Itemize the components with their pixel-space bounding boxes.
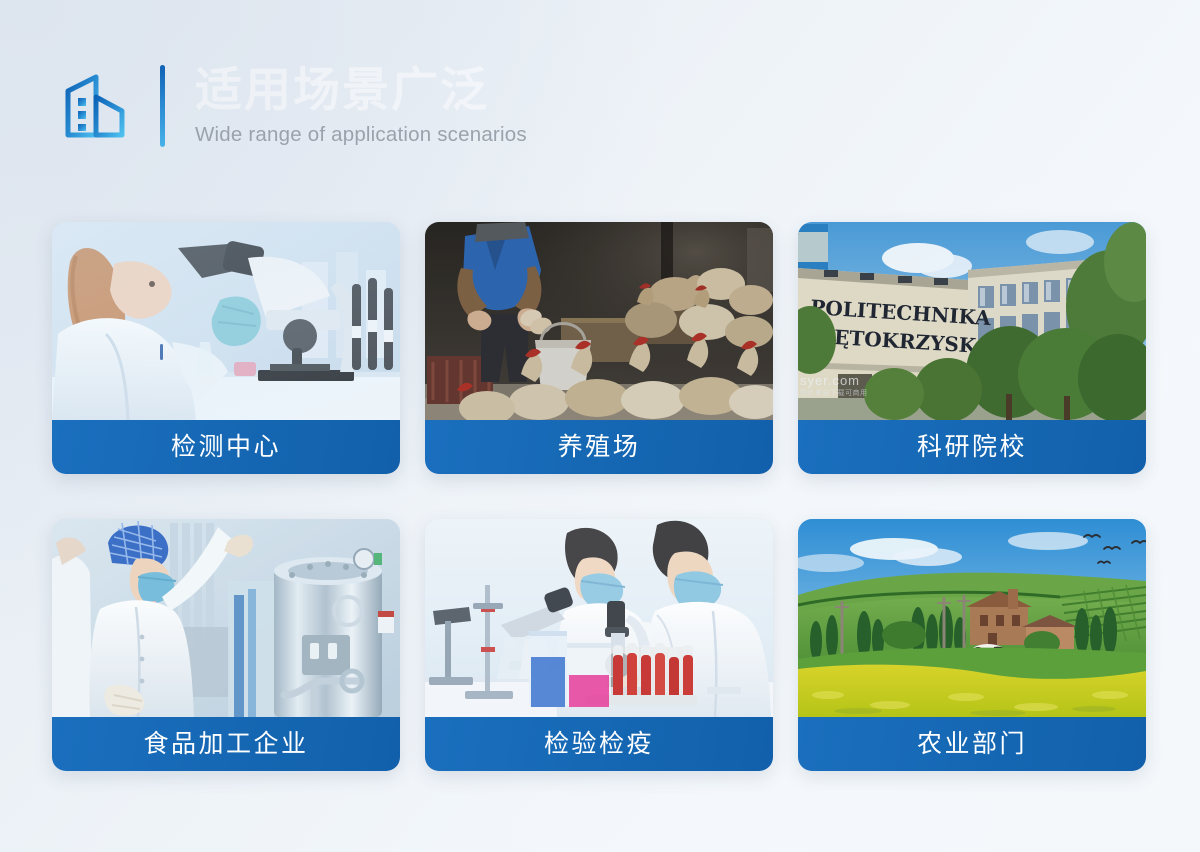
scenario-card-agriculture-department[interactable]: 农业部门 [798,519,1146,771]
scenario-card-grid: 检测中心 [52,222,1148,771]
card-label-research-institute: 科研院校 [798,420,1146,474]
card-label-testing-center: 检测中心 [52,420,400,474]
card-photo-research-institute: POLITECHNIKA WIĘTOKRZYSKA [798,222,1146,420]
card-label-text: 农业部门 [917,732,1027,757]
card-label-text: 检测中心 [171,435,281,460]
header-divider [160,65,165,147]
scenario-card-testing-center[interactable]: 检测中心 [52,222,400,474]
scenario-card-research-institute[interactable]: POLITECHNIKA WIĘTOKRZYSKA [798,222,1146,474]
card-label-text: 食品加工企业 [143,732,308,757]
card-photo-inspection-quarantine [425,519,773,717]
page-header: 适用场景广泛 Wide range of application scenari… [60,58,527,154]
card-photo-testing-center [52,222,400,420]
card-label-text: 检验检疫 [544,732,654,757]
image-watermark-sub: 图片来自下载可商用 [800,388,868,398]
card-photo-breeding-farm [425,222,773,420]
scenario-card-breeding-farm[interactable]: 养殖场 [425,222,773,474]
card-label-inspection-quarantine: 检验检疫 [425,717,773,771]
page-title: 适用场景广泛 [195,65,527,116]
scenario-card-food-processing[interactable]: 食品加工企业 [52,519,400,771]
scenario-card-inspection-quarantine[interactable]: 检验检疫 [425,519,773,771]
card-label-text: 科研院校 [917,435,1027,460]
card-label-food-processing: 食品加工企业 [52,717,400,771]
image-watermark: syer.com 图片来自下载可商用 [800,373,868,398]
card-photo-agriculture-department [798,519,1146,717]
card-label-text: 养殖场 [558,435,641,460]
page-subtitle: Wide range of application scenarios [195,123,527,147]
card-photo-food-processing [52,519,400,717]
card-label-breeding-farm: 养殖场 [425,420,773,474]
building-icon [60,69,134,143]
card-label-agriculture-department: 农业部门 [798,717,1146,771]
